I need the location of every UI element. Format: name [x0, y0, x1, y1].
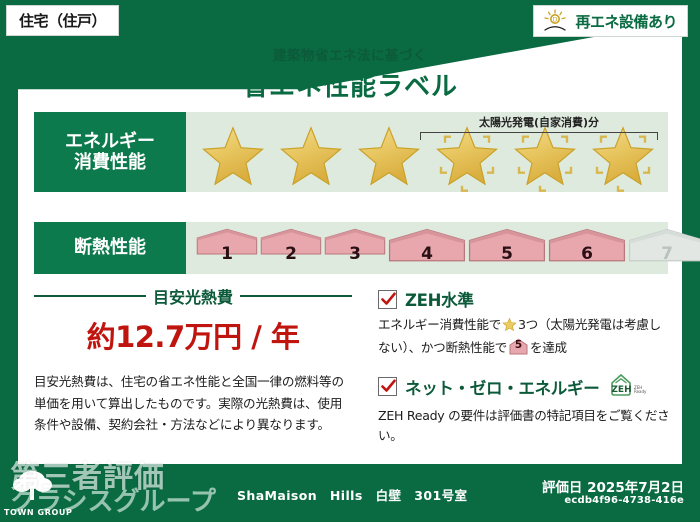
zeh-body-part1: エネルギー消費性能で — [378, 317, 501, 332]
insulation-chip-4: 4 — [388, 228, 466, 268]
zeh-info-block: ZEH水準 エネルギー消費性能で3つ（太陽光発電は考慮しない）、かつ断熱性能で5… — [378, 287, 670, 460]
inline-star-icon — [502, 317, 517, 338]
check-icon — [380, 378, 397, 395]
energy-star-6 — [584, 124, 662, 190]
net-zero-head: ネット・ゼロ・エネルギー ZEH ZEH Ready — [378, 372, 670, 402]
star-icon — [432, 126, 502, 194]
utility-cost-heading-text: 目安光熱費 — [153, 284, 233, 308]
net-zero-energy-block: ネット・ゼロ・エネルギー ZEH ZEH Ready ZEH Ready の要件… — [378, 372, 670, 447]
insulation-chip-1: 1 — [196, 228, 258, 268]
energy-label-line2: 消費性能 — [74, 152, 146, 173]
energy-label-line1: エネルギー — [65, 131, 155, 152]
net-zero-title: ネット・ゼロ・エネルギー — [405, 375, 599, 399]
inline-chip-value: 5 — [509, 338, 528, 355]
insulation-level-chips: 1 2 3 4 5 — [186, 222, 700, 274]
town-group-text: TOWN GROUP — [4, 508, 72, 517]
energy-consumption-label: エネルギー 消費性能 — [34, 112, 186, 192]
zeh-standard-block: ZEH水準 エネルギー消費性能で3つ（太陽光発電は考慮しない）、かつ断熱性能で5… — [378, 287, 670, 359]
svg-text:ZEH: ZEH — [612, 385, 632, 395]
chip-number: 6 — [581, 244, 593, 264]
insulation-chip-5: 5 — [468, 228, 546, 268]
chip-number: 2 — [285, 244, 297, 264]
chip-number: 4 — [421, 244, 433, 264]
heading-rule-right — [240, 295, 352, 297]
zeh-standard-head: ZEH水準 — [378, 287, 670, 311]
renewable-badge-label: 再エネ設備あり — [575, 11, 677, 32]
evaluation-id: ecdb4f96-4738-416e — [564, 495, 684, 506]
heading-rule-left — [34, 295, 146, 297]
energy-star-2 — [272, 124, 350, 190]
star-icon — [276, 126, 346, 194]
zeh-house-logo: ZEH ZEH Ready — [610, 372, 656, 402]
energy-star-rating: 太陽光発電(自家消費)分 — [186, 112, 668, 192]
housing-type-label: 住宅（住戸） — [19, 10, 106, 31]
renewable-equipment-badge: D 再エネ設備あり — [533, 5, 688, 37]
evaluation-date: 評価日 2025年7月2日 — [542, 476, 684, 496]
net-zero-checkbox — [378, 377, 397, 396]
svg-text:D: D — [553, 17, 558, 24]
insulation-label-text: 断熱性能 — [74, 237, 146, 258]
zeh-body-part2: を達成 — [530, 340, 567, 355]
insulation-chip-3: 3 — [324, 228, 386, 268]
utility-cost-note: 目安光熱費は、住宅の省エネ性能と全国一律の燃料等の単価を用いて算出したものです。… — [34, 371, 352, 436]
utility-cost-heading: 目安光熱費 — [34, 284, 352, 308]
utility-cost-value: 約12.7万円 / 年 — [34, 314, 352, 356]
chip-number: 5 — [501, 244, 513, 264]
zeh-standard-title: ZEH水準 — [405, 287, 474, 311]
chip-number: 7 — [661, 244, 673, 264]
label-title-block: 建築物省エネ法に基づく 省エネ性能ラベル — [0, 44, 700, 103]
insulation-performance-row: 断熱性能 1 2 3 4 — [34, 222, 668, 274]
insulation-chip-7: 7 — [628, 228, 700, 268]
utility-cost-block: 目安光熱費 約12.7万円 / 年 目安光熱費は、住宅の省エネ性能と全国一律の燃… — [34, 284, 352, 436]
zeh-standard-checkbox — [378, 290, 397, 309]
energy-consumption-row: エネルギー 消費性能 — [34, 112, 668, 192]
star-icon — [198, 126, 268, 194]
svg-text:Ready: Ready — [634, 389, 647, 394]
chip-number: 1 — [221, 244, 233, 264]
energy-star-5 — [506, 124, 584, 190]
housing-type-tab: 住宅（住戸） — [6, 5, 119, 36]
property-name: ShaMaison Hills 白壁 301号室 — [237, 485, 467, 504]
net-zero-body: ZEH Ready の要件は評価書の特記項目をご覧ください。 — [378, 406, 670, 447]
energy-star-3 — [350, 124, 428, 190]
insulation-chip-6: 6 — [548, 228, 626, 268]
check-icon — [380, 291, 397, 308]
energy-performance-label: 住宅（住戸） D 再エネ設備あり 建築物省エネ法に基づく 省エネ性能ラベル — [0, 0, 700, 522]
town-group-logo: TOWN GROUP — [2, 466, 74, 520]
tree-icon — [2, 466, 74, 510]
insulation-chip-2: 2 — [260, 228, 322, 268]
energy-star-1 — [194, 124, 272, 190]
insulation-label: 断熱性能 — [34, 222, 186, 274]
zeh-standard-body: エネルギー消費性能で3つ（太陽光発電は考慮しない）、かつ断熱性能で5を達成 — [378, 315, 670, 359]
sun-icon: D — [542, 9, 568, 33]
title-subtitle: 建築物省エネ法に基づく — [0, 44, 700, 64]
title-main: 省エネ性能ラベル — [0, 66, 700, 103]
label-footer: ShaMaison Hills 白壁 301号室 評価日 2025年7月2日 e… — [0, 464, 700, 522]
inline-level-chip: 5 — [509, 338, 528, 355]
energy-star-4 — [428, 124, 506, 190]
star-icon — [588, 126, 658, 194]
star-icon — [354, 126, 424, 194]
star-icon — [510, 126, 580, 194]
chip-number: 3 — [349, 244, 361, 264]
